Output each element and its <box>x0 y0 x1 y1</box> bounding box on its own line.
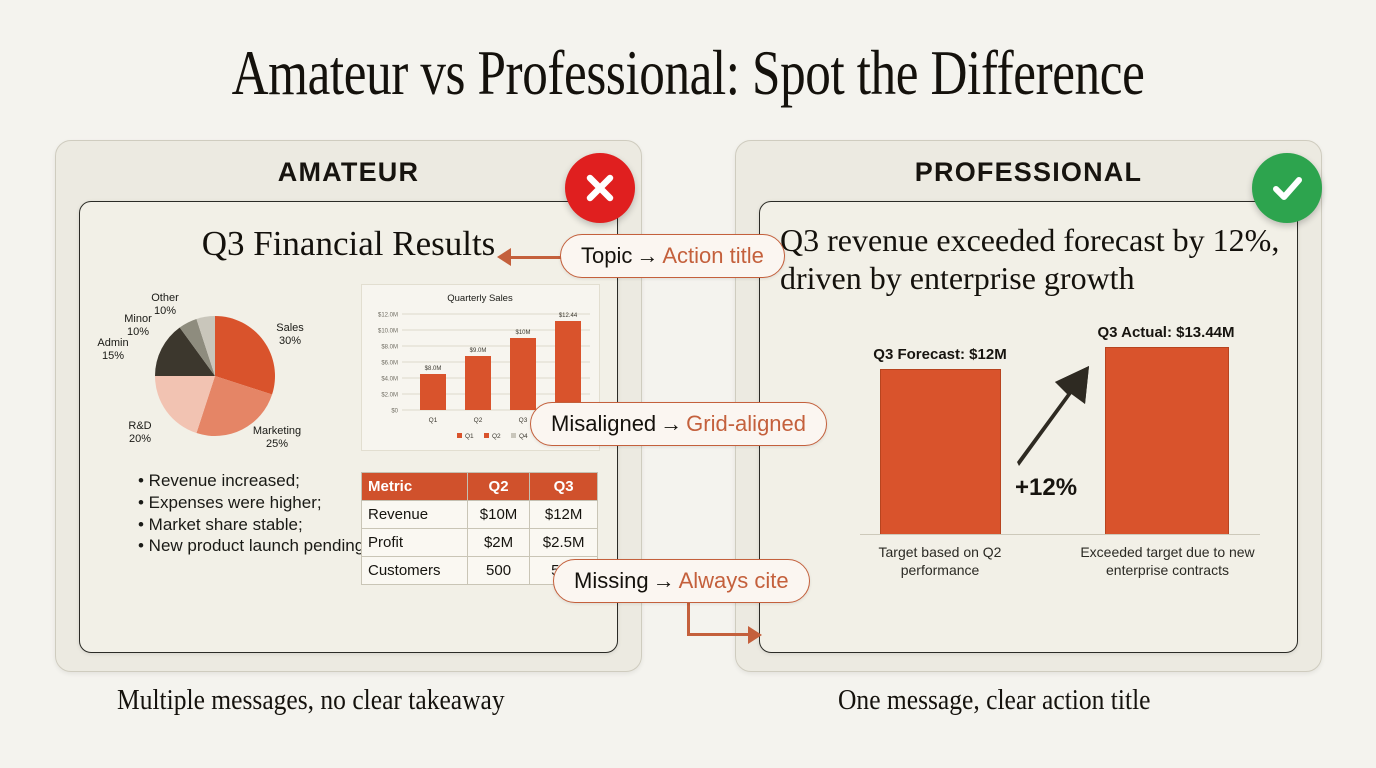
annotation-key: Missing <box>574 568 649 593</box>
list-item: • Revenue increased; <box>138 470 364 492</box>
list-item: • Expenses were higher; <box>138 492 364 514</box>
pie-value-admin: 15% <box>102 350 124 362</box>
bar-value-q2: $9.0M <box>470 348 487 354</box>
actual-bar-label: Q3 Actual: $13.44M <box>1086 324 1246 341</box>
annotation-pill-topic[interactable]: Topic→Action title <box>560 234 785 278</box>
arrow-glyph: → <box>632 243 662 268</box>
growth-arrow-icon <box>1015 362 1105 472</box>
quarterly-chart-legend: Q1 Q2 Q4 <box>457 433 528 440</box>
bar-q2 <box>465 356 491 410</box>
actual-bar <box>1105 347 1229 535</box>
annotation-value: Action title <box>662 243 764 268</box>
bar-q1 <box>420 374 446 410</box>
connector-missing-vertical <box>687 602 690 636</box>
pie-label-minor: Minor <box>124 313 152 325</box>
ytick-0: $0 <box>391 409 398 415</box>
cell-metric: Profit <box>362 529 468 557</box>
bar-xtick-q2: Q2 <box>474 417 483 424</box>
bar-q4 <box>555 321 581 410</box>
professional-slide-card: Q3 revenue exceeded forecast by 12%, dri… <box>759 201 1298 653</box>
cell-q2: $2M <box>467 529 530 557</box>
amateur-caption: Multiple messages, no clear takeaway <box>117 684 505 717</box>
forecast-bar <box>880 369 1001 535</box>
pie-value-marketing: 25% <box>266 438 288 450</box>
table-header-metric: Metric <box>362 473 468 501</box>
amateur-heading: AMATEUR <box>56 157 641 188</box>
bar-value-q1: $8.0M <box>425 366 442 372</box>
annotation-key: Topic <box>581 243 632 268</box>
arrow-glyph: → <box>656 411 686 436</box>
bar-q3 <box>510 338 536 410</box>
cell-q2: 500 <box>467 557 530 585</box>
page-title: Amateur vs Professional: Spot the Differ… <box>138 36 1239 110</box>
connector-topic <box>510 256 566 259</box>
annotation-value: Grid-aligned <box>686 411 806 436</box>
cross-icon <box>565 153 635 223</box>
pie-label-marketing: Marketing <box>253 425 301 437</box>
cell-metric: Revenue <box>362 501 468 529</box>
pie-value-rnd: 20% <box>129 433 151 445</box>
cell-metric: Customers <box>362 557 468 585</box>
chart-baseline <box>860 534 1260 535</box>
bar-xtick-q3: Q3 <box>519 417 528 424</box>
ytick-6m: $6.0M <box>381 361 398 367</box>
list-item: • Market share stable; <box>138 514 364 536</box>
connector-missing-horizontal <box>687 633 749 636</box>
list-item: • New product launch pending <box>138 535 364 557</box>
annotation-value: Always cite <box>679 568 789 593</box>
legend-q1: Q1 <box>465 433 474 440</box>
table-header-q2: Q2 <box>467 473 530 501</box>
ytick-10m: $10.0M <box>378 329 398 335</box>
pie-value-minor: 10% <box>127 326 149 338</box>
annotation-pill-missing[interactable]: Missing→Always cite <box>553 559 810 603</box>
ytick-2m: $2.0M <box>381 393 398 399</box>
professional-heading: PROFESSIONAL <box>736 157 1321 188</box>
slide-canvas: Amateur vs Professional: Spot the Differ… <box>0 0 1376 768</box>
bar-value-q4: $12.44 <box>559 313 578 319</box>
table-row: Profit $2M $2.5M <box>362 529 598 557</box>
ytick-4m: $4.0M <box>381 377 398 383</box>
table-header-row: Metric Q2 Q3 <box>362 473 598 501</box>
professional-deck-title: Q3 revenue exceeded forecast by 12%, dri… <box>780 222 1280 298</box>
cell-q3: $12M <box>530 501 598 529</box>
legend-q4: Q4 <box>519 433 528 440</box>
pie-value-other: 10% <box>154 305 176 317</box>
annotation-pill-misaligned[interactable]: Misaligned→Grid-aligned <box>530 402 827 446</box>
professional-panel: PROFESSIONAL Q3 revenue exceeded forecas… <box>735 140 1322 672</box>
pie-value-sales: 30% <box>279 335 301 347</box>
connector-topic-arrowhead <box>497 248 511 266</box>
professional-caption: One message, clear action title <box>838 684 1150 717</box>
amateur-bullet-list: • Revenue increased; • Expenses were hig… <box>138 470 364 557</box>
table-row: Revenue $10M $12M <box>362 501 598 529</box>
arrow-glyph: → <box>649 568 679 593</box>
table-header-q3: Q3 <box>530 473 598 501</box>
pie-label-other: Other <box>151 292 179 304</box>
pie-label-sales: Sales <box>276 322 304 334</box>
forecast-bar-label: Q3 Forecast: $12M <box>870 346 1010 363</box>
actual-caption: Exceeded target due to new enterprise co… <box>1080 544 1255 579</box>
ytick-8m: $8.0M <box>381 345 398 351</box>
forecast-vs-actual-chart: Q3 Forecast: $12M Q3 Actual: $13.44M +12… <box>760 322 1297 582</box>
bar-value-q3: $10M <box>515 330 530 336</box>
annotation-key: Misaligned <box>551 411 656 436</box>
bar-xtick-q1: Q1 <box>429 417 438 424</box>
cell-q3: $2.5M <box>530 529 598 557</box>
cell-q2: $10M <box>467 501 530 529</box>
pie-label-rnd: R&D <box>128 420 151 432</box>
ytick-12m: $12.0M <box>378 313 398 319</box>
forecast-caption: Target based on Q2 performance <box>865 544 1015 579</box>
expense-pie-chart: Other 10% Minor 10% Admin 15% R&D 20% Ma… <box>85 284 345 459</box>
legend-q2: Q2 <box>492 433 501 440</box>
delta-label: +12% <box>1015 474 1077 502</box>
connector-missing-arrowhead <box>748 626 762 644</box>
quarterly-bars <box>420 321 581 410</box>
quarterly-sales-chart-title: Quarterly Sales <box>447 293 513 304</box>
pie-label-admin: Admin <box>97 337 128 349</box>
check-icon <box>1252 153 1322 223</box>
